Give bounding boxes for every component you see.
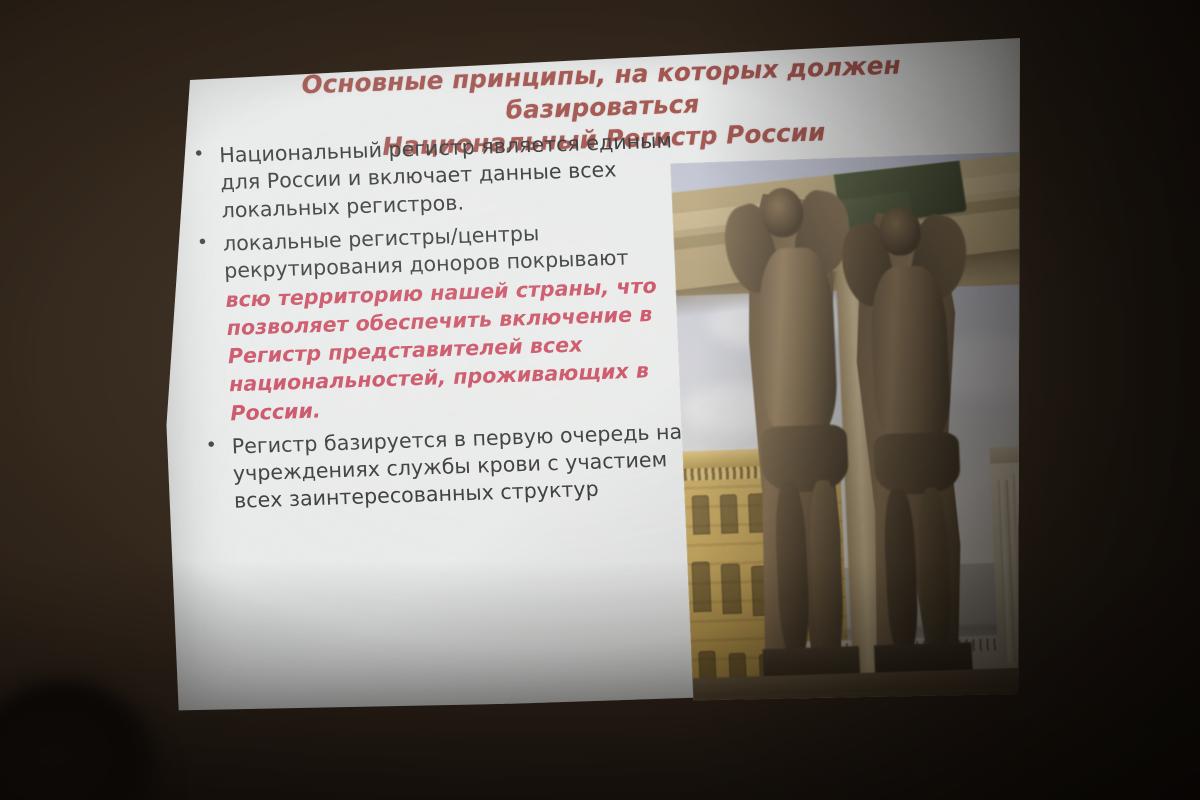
bullet-text-3: Регистр базируется в первую очередь на у… xyxy=(231,419,682,513)
screenshot-stage: Основные принципы, на которых должен баз… xyxy=(0,0,1200,800)
bullet-text-1: Национальный регистр является единым для… xyxy=(219,128,673,222)
atlas-left-drapery xyxy=(760,424,849,493)
bullet-list: Национальный регистр является единым для… xyxy=(179,127,697,517)
facade-window xyxy=(692,495,710,534)
bullet-text-2: локальные регистры/центры рекрутирования… xyxy=(223,221,629,283)
bullet-item-1: Национальный регистр является единым для… xyxy=(179,127,685,226)
atlantes-new-hermitage-photo xyxy=(670,151,1067,718)
facade-window xyxy=(691,562,712,612)
atlas-left-torso xyxy=(756,247,839,438)
bullet-item-2: локальные регистры/центры рекрутирования… xyxy=(182,215,693,428)
slide-body: Национальный регистр является единым для… xyxy=(179,127,697,523)
facade-window xyxy=(721,564,742,614)
presentation-slide[interactable]: Основные принципы, на которых должен баз… xyxy=(150,11,1063,715)
atlas-right-torso xyxy=(869,265,951,445)
facade-window xyxy=(720,494,738,533)
atlas-right-drapery xyxy=(873,431,962,495)
bullet-emphasis-2: всю территорию нашей страны, что позволя… xyxy=(225,271,693,427)
bullet-item-3: Регистр базируется в первую очередь на у… xyxy=(191,418,697,517)
